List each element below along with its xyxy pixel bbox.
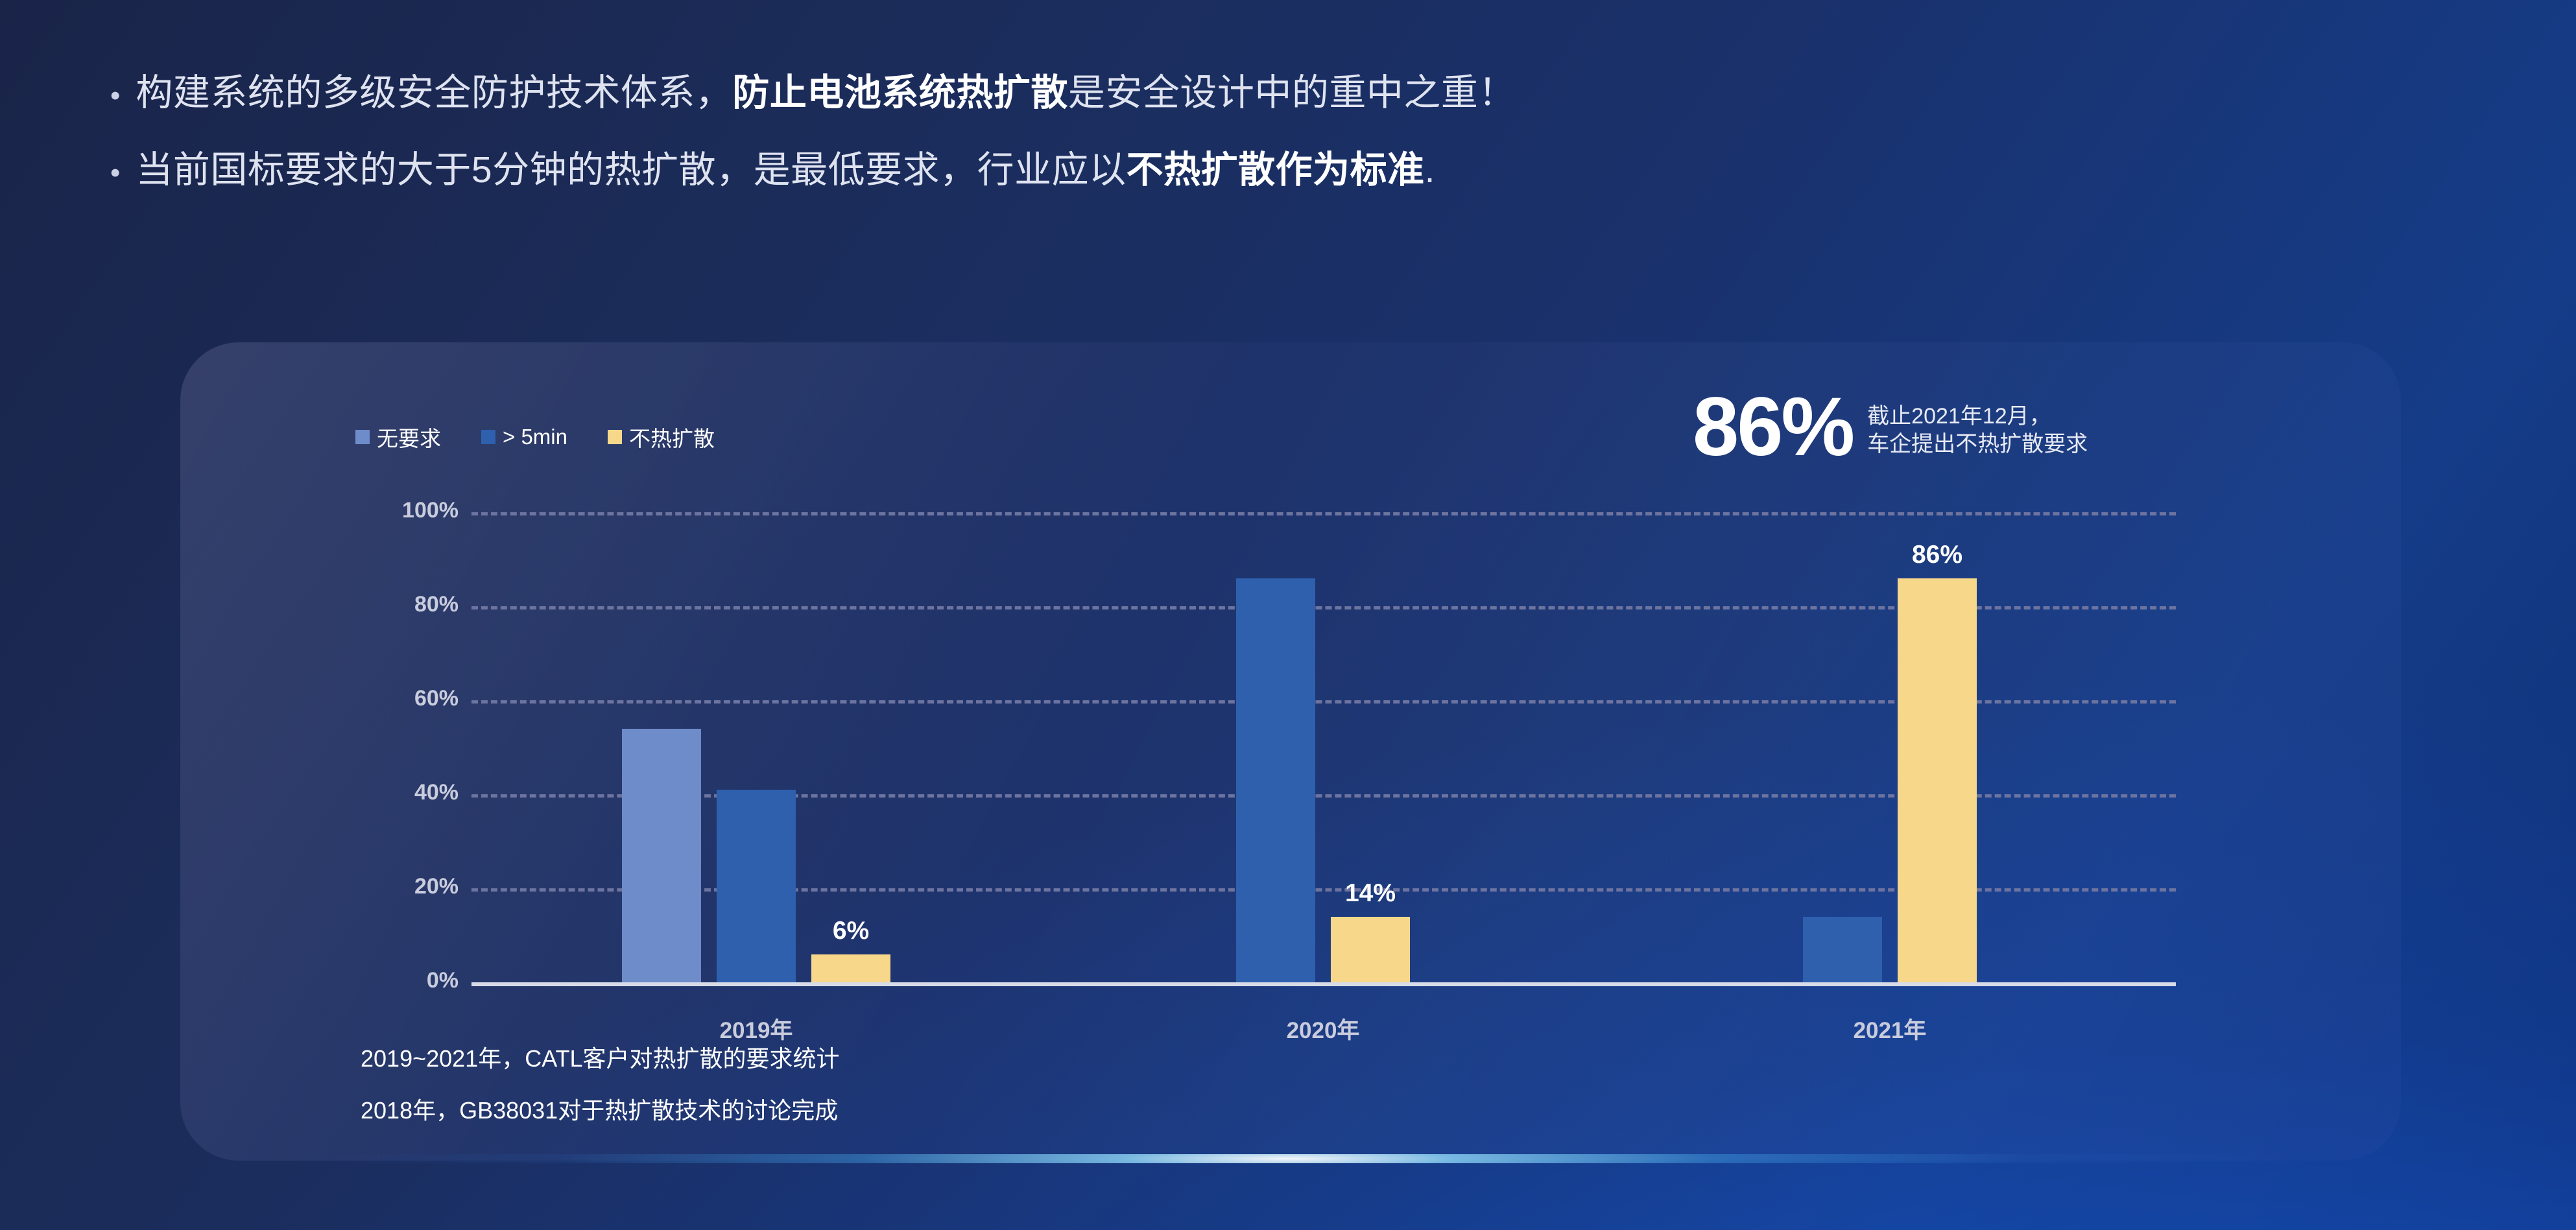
- legend-item-2[interactable]: 不热扩散: [608, 421, 715, 453]
- legend-label: 不热扩散: [629, 421, 715, 453]
- stat-caption: 截止2021年12月， 车企提出不热扩散要求: [1867, 403, 2088, 459]
- bullet-1-part-2: 防止电池系统热扩散: [732, 72, 1068, 113]
- bullet-marker-icon: •: [110, 82, 120, 110]
- stat-caption-line-2: 车企提出不热扩散要求: [1867, 431, 2088, 459]
- legend-item-0[interactable]: 无要求: [355, 421, 441, 453]
- slide-bottom-glow: [0, 1154, 2576, 1163]
- legend-swatch-icon: [481, 430, 495, 444]
- bullet-text-2: 当前国标要求的大于5分钟的热扩散，是最低要求，行业应以不热扩散作为标准.: [136, 147, 1435, 193]
- legend-swatch-icon: [608, 430, 622, 444]
- stat-number: 86%: [1693, 389, 1853, 466]
- bullet-1-part-3: 是安全设计中的重中之重！: [1068, 72, 1516, 113]
- legend-label: 无要求: [377, 421, 441, 453]
- legend-label: > 5min: [503, 425, 567, 449]
- bullet-text-1: 构建系统的多级安全防护技术体系，防止电池系统热扩散是安全设计中的重中之重！: [136, 70, 1516, 116]
- bullet-2-part-2: 不热扩散作为标准: [1127, 149, 1425, 191]
- bullet-2-part-3: .: [1425, 149, 1435, 191]
- bullet-item-1: • 构建系统的多级安全防护技术体系，防止电池系统热扩散是安全设计中的重中之重！: [110, 70, 2056, 116]
- legend-swatch-icon: [355, 430, 370, 444]
- footnote-2: 2018年，GB38031对于热扩散技术的讨论完成: [361, 1099, 840, 1122]
- chart-legend: 无要求> 5min不热扩散: [355, 421, 755, 453]
- bullet-2-part-1: 当前国标要求的大于5分钟的热扩散，是最低要求，行业应以: [136, 149, 1126, 191]
- bullet-marker-icon: •: [110, 159, 120, 187]
- footnote-1: 2019~2021年，CATL客户对热扩散的要求统计: [361, 1047, 840, 1070]
- chart-footnotes: 2019~2021年，CATL客户对热扩散的要求统计 2018年，GB38031…: [361, 1047, 840, 1151]
- highlight-stat: 86% 截止2021年12月， 车企提出不热扩散要求: [1693, 389, 2088, 466]
- legend-item-1[interactable]: > 5min: [481, 425, 567, 449]
- stat-caption-line-1: 截止2021年12月，: [1867, 403, 2088, 431]
- bullet-item-2: • 当前国标要求的大于5分钟的热扩散，是最低要求，行业应以不热扩散作为标准.: [110, 147, 2056, 193]
- bullet-list: • 构建系统的多级安全防护技术体系，防止电池系统热扩散是安全设计中的重中之重！ …: [110, 70, 2056, 225]
- bullet-1-part-1: 构建系统的多级安全防护技术体系，: [136, 72, 732, 113]
